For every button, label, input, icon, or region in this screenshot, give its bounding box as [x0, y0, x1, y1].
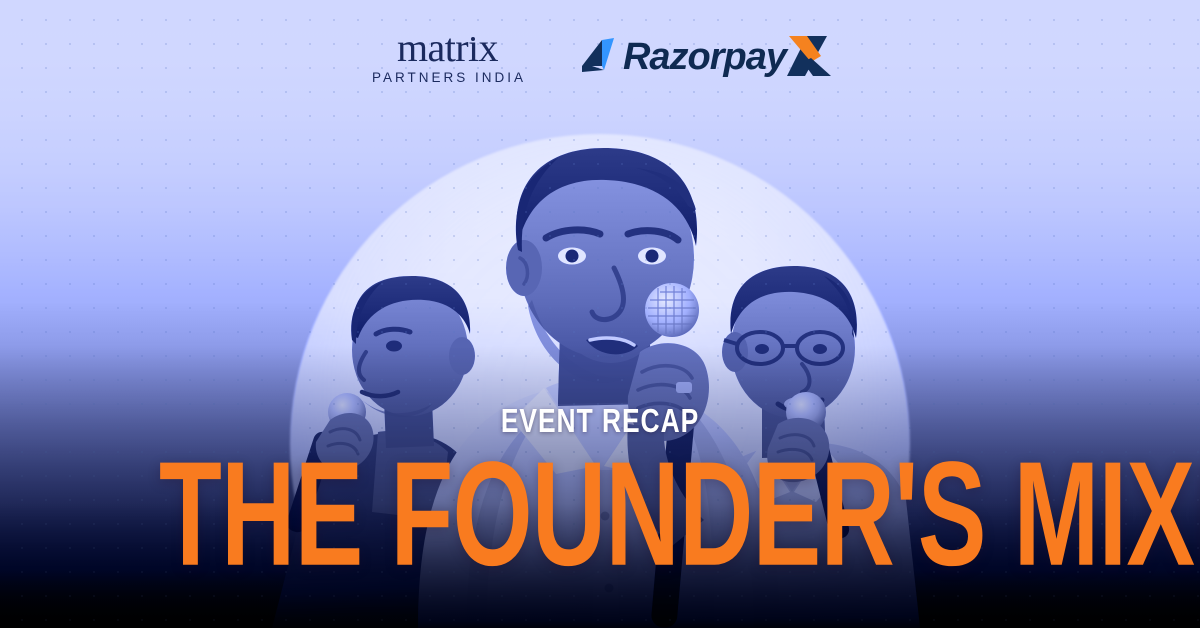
page-title: THE FOUNDER'S MIXER — [159, 446, 1041, 583]
razorpayx-logo[interactable]: Razorpay — [580, 34, 831, 80]
matrix-subtitle: PARTNERS INDIA — [369, 70, 526, 85]
matrix-word-part1: matr — [397, 25, 468, 70]
hero-text-block: EVENT RECAP THE FOUNDER'S MIXER — [0, 404, 1200, 575]
matrix-wordmark: matrıx — [397, 28, 498, 67]
event-recap-banner: matrıx PARTNERS INDIA Razorpay EVENT REC… — [0, 0, 1200, 628]
matrix-partners-india-logo[interactable]: matrıx PARTNERS INDIA — [369, 28, 526, 85]
razorpayx-x-icon — [787, 34, 831, 80]
matrix-word-part2: x — [478, 25, 497, 70]
matrix-dotless-i-glyph: ı — [468, 25, 479, 70]
razorpay-arrow-mark — [580, 36, 620, 78]
matrix-dotless-i: ı — [468, 28, 479, 67]
logo-bar: matrıx PARTNERS INDIA Razorpay — [0, 28, 1200, 85]
razorpay-wordmark: Razorpay — [623, 38, 786, 76]
matrix-i-dot — [471, 37, 475, 41]
